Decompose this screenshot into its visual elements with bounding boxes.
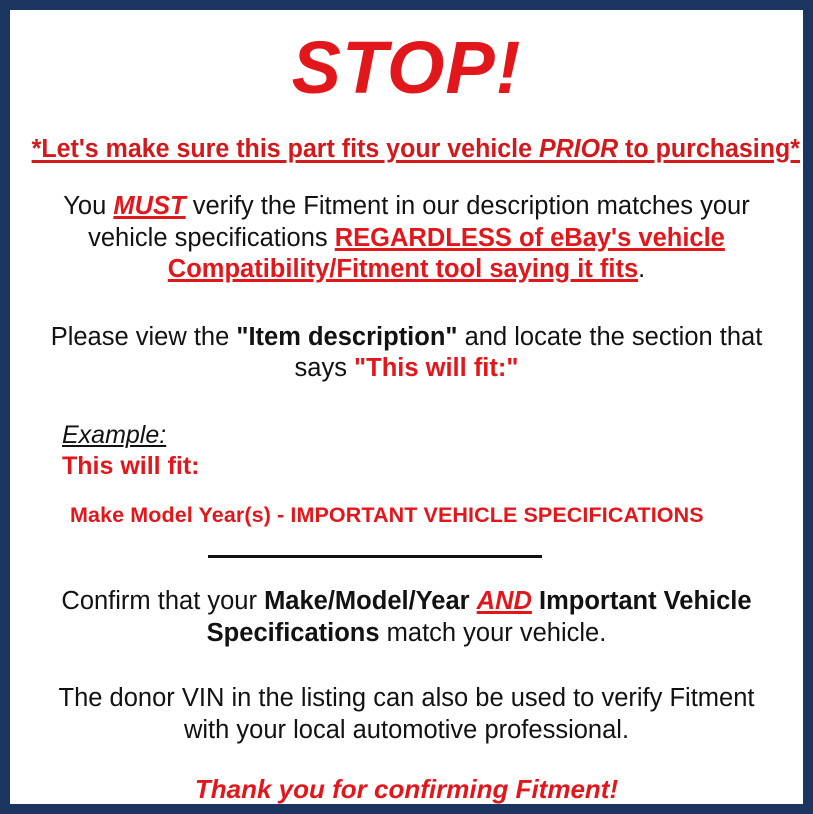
view-segment-lead: Please view the — [51, 323, 237, 351]
confirm-segment-end: match your vehicle. — [380, 619, 607, 647]
example-this-will-fit: This will fit: — [62, 451, 789, 482]
vin-text: The donor VIN in the listing can also be… — [59, 684, 755, 744]
must-segment-lead: You — [63, 192, 113, 220]
item-description-emphasis: "Item description" — [236, 323, 457, 351]
page-title: STOP! — [24, 31, 789, 105]
example-spec-line: Make Model Year(s) - IMPORTANT VEHICLE S… — [62, 503, 789, 529]
make-model-year-emphasis: Make/Model/Year — [264, 587, 470, 615]
subtitle-prefix: *Let's make sure this part fits your veh… — [32, 135, 539, 163]
paragraph-confirm: Confirm that your Make/Model/Year AND Im… — [46, 586, 767, 649]
must-emphasis: MUST — [113, 192, 185, 220]
confirm-space-2 — [532, 587, 539, 615]
paragraph-item-description: Please view the "Item description" and l… — [42, 322, 771, 385]
example-label: Example: — [62, 421, 789, 449]
subtitle-warning: *Let's make sure this part fits your veh… — [32, 135, 782, 163]
subtitle-suffix: to purchasing* — [618, 135, 800, 163]
section-divider — [208, 555, 542, 558]
confirm-segment-lead: Confirm that your — [61, 587, 264, 615]
confirm-space-1 — [470, 587, 477, 615]
must-segment-end: . — [638, 255, 645, 283]
this-will-fit-emphasis: "This will fit:" — [354, 354, 518, 382]
subtitle-emphasis-prior: PRIOR — [539, 135, 618, 163]
thank-you-line: Thank you for confirming Fitment! — [24, 774, 789, 805]
fitment-notice-card: STOP! *Let's make sure this part fits yo… — [0, 0, 813, 814]
paragraph-donor-vin: The donor VIN in the listing can also be… — [38, 683, 775, 746]
example-block: Example: This will fit: Make Model Year(… — [24, 421, 789, 529]
and-emphasis: AND — [477, 587, 532, 615]
paragraph-must-verify: You MUST verify the Fitment in our descr… — [46, 191, 767, 286]
